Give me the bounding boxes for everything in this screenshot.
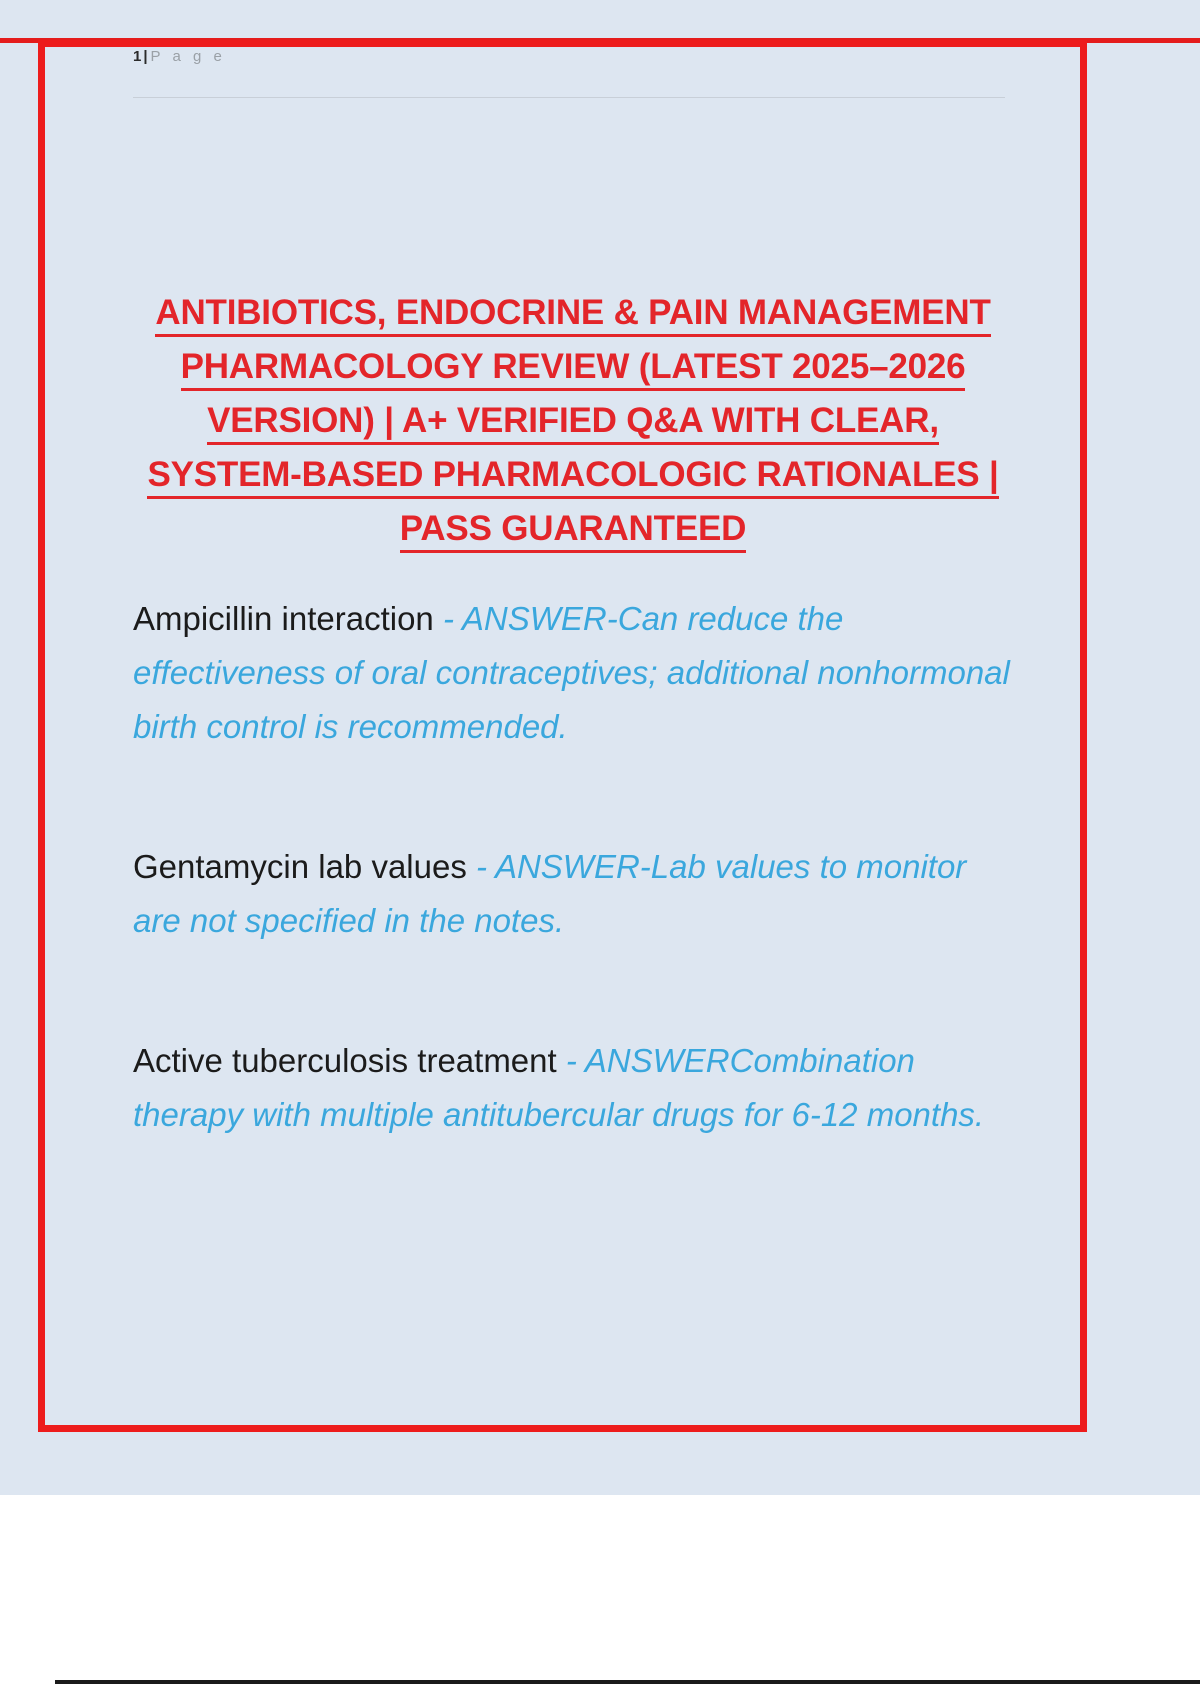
qa-item-ampicillin-interaction: Ampicillin interaction - ANSWER-Can redu… [133,592,1013,754]
qa-list: Ampicillin interaction - ANSWER-Can redu… [133,592,1013,1142]
title-line-4: SYSTEM-BASED PHARMACOLOGIC RATIONALES | [133,448,1013,502]
page-header-separator: | [143,48,147,65]
qa-question: Gentamycin lab values [133,848,476,885]
title-line-2: PHARMACOLOGY REVIEW (LATEST 2025–2026 [133,340,1013,394]
qa-item-gentamycin-lab-values: Gentamycin lab values - ANSWER-Lab value… [133,840,1013,948]
qa-item-active-tuberculosis-treatment: Active tuberculosis treatment - ANSWERCo… [133,1034,1013,1142]
document-title: ANTIBIOTICS, ENDOCRINE & PAIN MANAGEMENT… [133,286,1013,556]
page-header-label: P a g e [151,48,226,65]
qa-question: Active tuberculosis treatment [133,1042,566,1079]
document-page: 1|P a g e ANTIBIOTICS, ENDOCRINE & PAIN … [0,0,1200,1495]
running-header: 1|P a g e [133,48,1013,71]
below-page-whitespace [0,1495,1200,1700]
title-line-1: ANTIBIOTICS, ENDOCRINE & PAIN MANAGEMENT [133,286,1013,340]
bottom-divider [55,1680,1200,1684]
title-line-5: PASS GUARANTEED [133,502,1013,556]
header-divider [133,97,1005,98]
page-content: 1|P a g e ANTIBIOTICS, ENDOCRINE & PAIN … [133,48,1013,1142]
title-line-3: VERSION) | A+ VERIFIED Q&A WITH CLEAR, [133,394,1013,448]
qa-question: Ampicillin interaction [133,600,443,637]
page-number: 1 [133,48,141,65]
